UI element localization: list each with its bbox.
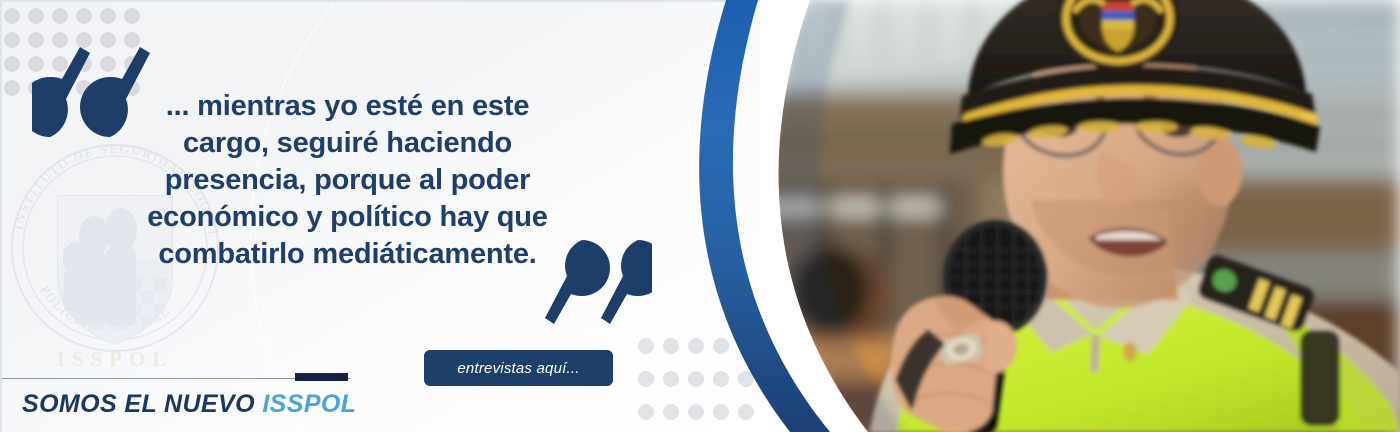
dot bbox=[4, 80, 20, 96]
dot bbox=[28, 8, 44, 24]
tagline-brand: ISSPOL bbox=[262, 390, 356, 418]
dot bbox=[663, 404, 679, 420]
cta-button-label: entrevistas aquí... bbox=[457, 360, 579, 377]
officer-photo bbox=[700, 0, 1400, 432]
tagline: SOMOS EL NUEVO ISSPOL bbox=[22, 390, 356, 419]
tagline-prefix: SOMOS EL NUEVO bbox=[22, 390, 255, 418]
quote-banner: INSTITUTO DE SEGURIDAD SOCIAL DE LA POLI… bbox=[0, 0, 1400, 432]
dot bbox=[638, 338, 654, 354]
dot bbox=[124, 8, 140, 24]
dot bbox=[663, 371, 679, 387]
top-edge-line bbox=[0, 0, 760, 2]
dot-row bbox=[4, 8, 148, 32]
quote-text: ... mientras yo esté en este cargo, segu… bbox=[120, 88, 575, 274]
dot bbox=[638, 404, 654, 420]
dot bbox=[663, 338, 679, 354]
dot bbox=[100, 8, 116, 24]
dot bbox=[76, 8, 92, 24]
dot bbox=[4, 32, 20, 48]
dot bbox=[52, 8, 68, 24]
dot bbox=[4, 8, 20, 24]
svg-text:POLICIA NACIONAL: POLICIA NACIONAL bbox=[38, 283, 174, 336]
dot bbox=[638, 371, 654, 387]
closing-quote-mark-icon bbox=[540, 240, 652, 326]
left-edge-line bbox=[0, 0, 2, 432]
bottom-divider-accent bbox=[295, 373, 348, 381]
entrevistas-cta-button[interactable]: entrevistas aquí... bbox=[424, 350, 613, 386]
svg-text:ISSPOL: ISSPOL bbox=[57, 347, 174, 371]
left-content-panel: INSTITUTO DE SEGURIDAD SOCIAL DE LA POLI… bbox=[0, 0, 760, 432]
dot bbox=[4, 56, 20, 72]
